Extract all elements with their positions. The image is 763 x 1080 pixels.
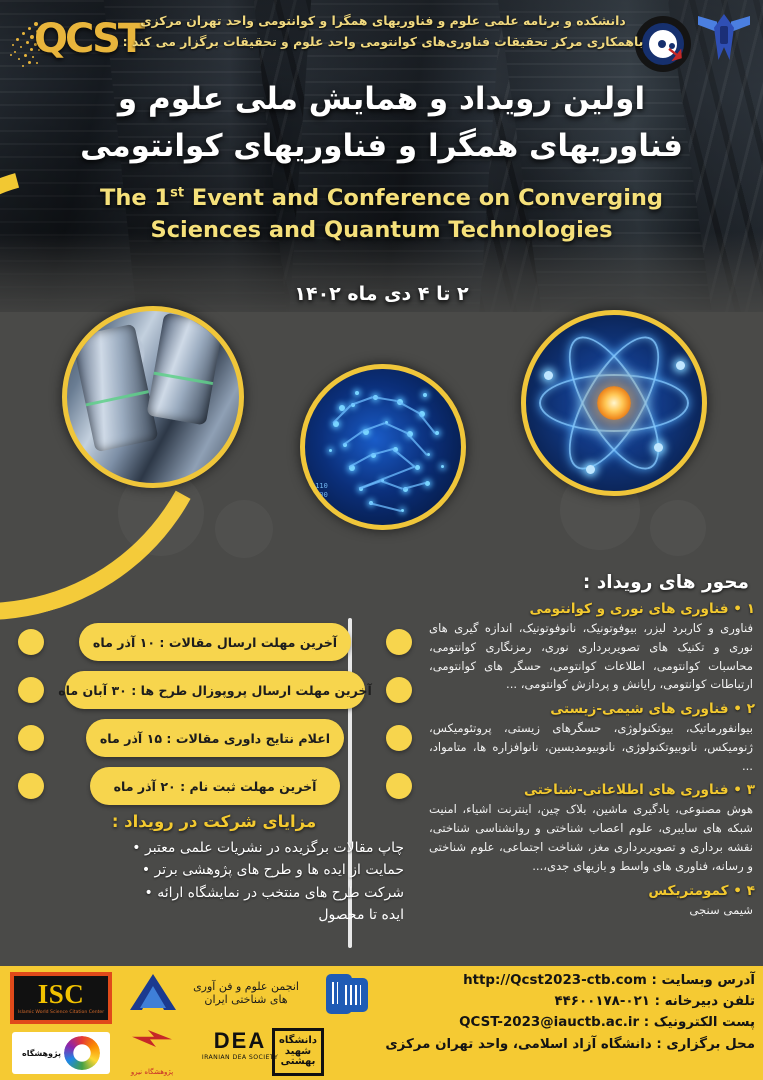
benefit-continuation: ایده تا محصول <box>14 905 404 926</box>
topic-body: بیوانفورماتیک، بیوتکنولوژی، حسگرهای زیست… <box>429 719 753 775</box>
english-title-line-2: Sciences and Quantum Technologies <box>0 215 763 247</box>
benefit-item: چاپ مقالات برگزیده در نشریات علمی معتبر … <box>14 838 404 859</box>
rainbow-institute-logo: پژوهشگاه <box>12 1032 110 1074</box>
topic-title: ۴ • کمومتریکس <box>423 883 755 899</box>
deadlines-section: آخرین مهلت ارسال مقالات : ۱۰ آذر ماه آخر… <box>16 618 414 810</box>
deadline-row: اعلام نتایج داوری مقالات : ۱۵ آذر ماه <box>16 714 414 762</box>
azad-wings-icon <box>698 12 750 62</box>
contact-phone-row: تلفن دبیرخانه : ۰۲۱-۴۴۶۰۰۱۷۸ <box>357 991 755 1012</box>
topics-heading: محور های رویداد : <box>423 572 749 593</box>
deadline-dot-left <box>18 677 44 703</box>
topic-item: ۳ • فناوری های اطلاعاتی-شناختی هوش مصنوع… <box>423 782 755 875</box>
topic-number: ۳ <box>747 782 755 798</box>
topic-body: هوش مصنوعی، یادگیری ماشین، بلاک چین، این… <box>429 800 753 875</box>
topic-item: ۱ • فناوری های نوری و کوانتومی فناوری و … <box>423 601 755 694</box>
event-date: ۲ تا ۴ دی ماه ۱۴۰۲ <box>0 283 763 305</box>
topic-label: فناوری های نوری و کوانتومی <box>530 601 729 617</box>
decorative-circle <box>650 500 706 556</box>
english-title: The 1st Event and Conference on Convergi… <box>0 183 763 247</box>
benefit-text: شرکت طرح های منتخب در نمایشگاه ارائه <box>157 885 404 901</box>
persian-title-line-1: اولین رویداد و همایش ملی علوم و <box>0 76 763 123</box>
cognitive-society-name: انجمن علوم و فن آوری های شناختی ایران <box>186 980 306 1006</box>
sponsor-logos: ISC Islamic World Science Citation Cente… <box>0 966 352 1080</box>
topics-section: محور های رویداد : ۱ • فناوری های نوری و … <box>423 572 755 921</box>
deadline-dot-right <box>386 629 412 655</box>
conference-poster: QCST دانشکده و برنامه علمی علوم و فناوری… <box>0 0 763 1080</box>
venue-value: دانشگاه آزاد اسلامی، واحد تهران مرکزی <box>385 1037 651 1052</box>
deadline-pill: آخرین مهلت ارسال پروپوزال طرح ها : ۳۰ آب… <box>65 671 365 709</box>
email-label: پست الکترونیک : <box>644 1015 755 1030</box>
topic-body: شیمی سنجی <box>429 901 753 920</box>
decorative-circle <box>215 500 273 558</box>
organizer-line-2: باهمکاری مرکز تحقیقات فناوری‌های کوانتوم… <box>115 31 651 52</box>
topic-title: ۳ • فناوری های اطلاعاتی-شناختی <box>423 782 755 798</box>
benefit-item: حمایت از ایده ها و طرح های پژوهشی برتر • <box>14 860 404 881</box>
english-title-prefix: The 1 <box>100 185 170 211</box>
contact-info: آدرس وبسایت : http://Qcst2023-ctb.com تل… <box>357 970 755 1055</box>
deadline-row: آخرین مهلت ارسال پروپوزال طرح ها : ۳۰ آب… <box>16 666 414 714</box>
rainbow-rings-icon <box>64 1036 100 1070</box>
persian-title-line-2: فناوریهای همگرا و فناوریهای کوانتومی <box>0 123 763 170</box>
topic-label: فناوری های شیمی-زیستی <box>550 701 728 717</box>
deadline-row: آخرین مهلت ارسال مقالات : ۱۰ آذر ماه <box>16 618 414 666</box>
topic-label: فناوری های اطلاعاتی-شناختی <box>524 782 729 798</box>
cognitive-society-mark <box>122 970 184 1028</box>
azad-university-logo <box>697 12 751 82</box>
isc-subtitle: Islamic World Science Citation Center <box>18 1010 104 1015</box>
phone-label: تلفن دبیرخانه : <box>655 994 755 1009</box>
topic-title: ۲ • فناوری های شیمی-زیستی <box>423 701 755 717</box>
atom-nucleus-icon <box>597 386 631 420</box>
benefit-text: حمایت از ایده ها و طرح های پژوهشی برتر <box>155 862 404 878</box>
venue-label: محل برگزاری : <box>656 1037 755 1052</box>
deadline-dot-left <box>18 773 44 799</box>
contact-venue-row: محل برگزاری : دانشگاه آزاد اسلامی، واحد … <box>357 1034 755 1055</box>
topic-body: فناوری و کاربرد لیزر، بیوفوتونیک، نانوفو… <box>429 619 753 694</box>
email-value[interactable]: QCST-2023@iauctb.ac.ir <box>459 1012 639 1033</box>
benefits-heading: مزایای شرکت در رویداد : <box>14 812 414 831</box>
phone-value: ۰۲۱-۴۴۶۰۰۱۷۸ <box>554 994 649 1009</box>
isc-title: ISC <box>38 981 85 1008</box>
topic-label: کمومتریکس <box>648 883 728 899</box>
binary-code-text: 0110010010011001 <box>311 482 328 517</box>
website-label: آدرس وبسایت : <box>651 973 755 988</box>
ordinal-suffix: st <box>170 186 184 201</box>
contact-email-row: پست الکترونیک : QCST-2023@iauctb.ac.ir <box>357 1012 755 1033</box>
topic-number: ۲ <box>747 701 755 717</box>
benefits-section: مزایای شرکت در رویداد : چاپ مقالات برگزی… <box>14 812 414 926</box>
microscope-objectives-image <box>62 306 244 488</box>
benefit-text: چاپ مقالات برگزیده در نشریات علمی معتبر <box>145 840 404 856</box>
circuit-brain-image: 0110010010011001 <box>300 364 466 530</box>
english-title-rest: Event and Conference on Converging <box>184 185 663 211</box>
deadline-dot-right <box>386 725 412 751</box>
persian-title: اولین رویداد و همایش ملی علوم و فناوریها… <box>0 76 763 170</box>
niroo-label: پژوهشگاه نیرو <box>118 1068 186 1076</box>
rainbow-logo-script: پژوهشگاه <box>22 1049 61 1058</box>
website-value[interactable]: http://Qcst2023-ctb.com <box>463 970 647 991</box>
deadline-dot-left <box>18 629 44 655</box>
deadline-pill: آخرین مهلت ارسال مقالات : ۱۰ آذر ماه <box>79 623 351 661</box>
organizer-line-1: دانشکده و برنامه علمی علوم و فناوریهای ه… <box>115 10 651 31</box>
deadline-pill: اعلام نتایج داوری مقالات : ۱۵ آذر ماه <box>86 719 344 757</box>
contact-website-row: آدرس وبسایت : http://Qcst2023-ctb.com <box>357 970 755 991</box>
topic-number: ۱ <box>747 601 755 617</box>
shahid-beheshti-label: دانشگاه شهید بهشتی <box>275 1036 321 1068</box>
topic-item: ۲ • فناوری های شیمی-زیستی بیوانفورماتیک،… <box>423 701 755 775</box>
organizer-header: دانشکده و برنامه علمی علوم و فناوریهای ه… <box>115 10 651 53</box>
english-title-line-1: The 1st Event and Conference on Convergi… <box>0 183 763 215</box>
deadline-dot-right <box>386 773 412 799</box>
topic-item: ۴ • کمومتریکس شیمی سنجی <box>423 883 755 920</box>
deadline-dot-right <box>386 677 412 703</box>
shahid-beheshti-university-logo: دانشگاه شهید بهشتی <box>272 1028 324 1076</box>
benefit-item: شرکت طرح های منتخب در نمایشگاه ارائه • <box>14 883 404 904</box>
deadline-pill: آخرین مهلت ثبت نام : ۲۰ آذر ماه <box>90 767 340 805</box>
deadline-row: آخرین مهلت ثبت نام : ۲۰ آذر ماه <box>16 762 414 810</box>
footer-bar: ISC Islamic World Science Citation Cente… <box>0 966 763 1080</box>
atom-image <box>521 310 707 496</box>
topic-title: ۱ • فناوری های نوری و کوانتومی <box>423 601 755 617</box>
niroo-research-logo: پژوهشگاه نیرو <box>118 1030 186 1076</box>
isc-logo: ISC Islamic World Science Citation Cente… <box>10 972 112 1024</box>
topic-number: ۴ <box>747 883 755 899</box>
deadline-dot-left <box>18 725 44 751</box>
lightning-bolt-icon <box>132 1030 172 1047</box>
